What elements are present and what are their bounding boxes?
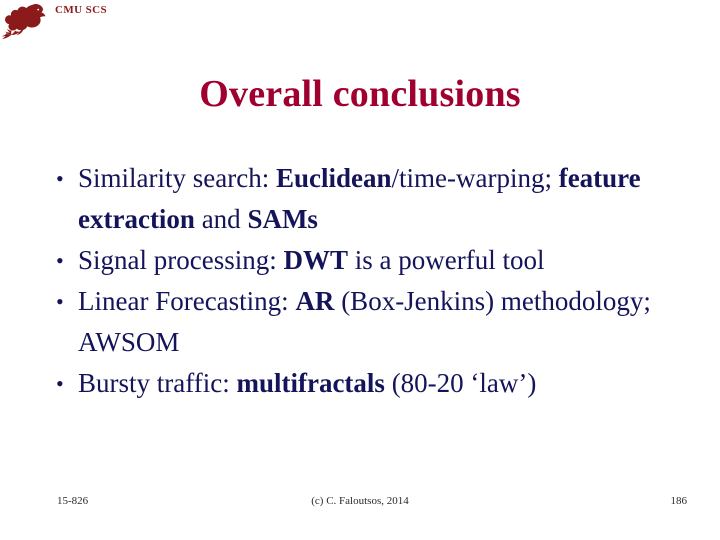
cmu-scotty-dragon-icon xyxy=(2,2,48,42)
slide-footer: 15-826 (c) C. Faloutsos, 2014 186 xyxy=(0,495,720,515)
slide: CMU SCS Overall conclusions •Similarity … xyxy=(0,0,720,540)
list-item-text: Bursty traffic: multifractals (80-20 ‘la… xyxy=(78,363,688,404)
emphasis-text: multifractals xyxy=(236,368,384,398)
footer-page-number: 186 xyxy=(671,495,688,507)
bullet-list: •Similarity search: Euclidean/time-warpi… xyxy=(48,158,688,404)
list-item: •Similarity search: Euclidean/time-warpi… xyxy=(48,158,688,240)
emphasis-text: AR xyxy=(295,286,334,316)
bullet-point-icon: • xyxy=(48,158,78,199)
bullet-point-icon: • xyxy=(48,240,78,281)
list-item-text: Signal processing: DWT is a powerful too… xyxy=(78,240,688,281)
footer-copyright: (c) C. Faloutsos, 2014 xyxy=(0,495,720,507)
plain-text: Bursty traffic: xyxy=(78,368,236,398)
plain-text: Signal processing: xyxy=(78,245,283,275)
slide-header: CMU SCS xyxy=(0,0,720,44)
org-label: CMU SCS xyxy=(55,4,107,16)
list-item-text: Similarity search: Euclidean/time-warpin… xyxy=(78,158,688,240)
plain-text: Similarity search: xyxy=(78,163,276,193)
emphasis-text: SAMs xyxy=(247,204,318,234)
emphasis-text: DWT xyxy=(283,245,348,275)
plain-text: (80-20 ‘law’) xyxy=(385,368,536,398)
bullet-point-icon: • xyxy=(48,281,78,322)
page-title: Overall conclusions xyxy=(0,74,720,116)
plain-text: and xyxy=(195,204,247,234)
list-item: •Linear Forecasting: AR (Box-Jenkins) me… xyxy=(48,281,688,363)
bullet-point-icon: • xyxy=(48,363,78,404)
list-item-text: Linear Forecasting: AR (Box-Jenkins) met… xyxy=(78,281,688,363)
emphasis-text: Euclidean xyxy=(276,163,392,193)
list-item: •Signal processing: DWT is a powerful to… xyxy=(48,240,688,281)
plain-text: /time-warping; xyxy=(391,163,558,193)
plain-text: Linear Forecasting: xyxy=(78,286,295,316)
list-item: •Bursty traffic: multifractals (80-20 ‘l… xyxy=(48,363,688,404)
plain-text: is a powerful tool xyxy=(348,245,544,275)
